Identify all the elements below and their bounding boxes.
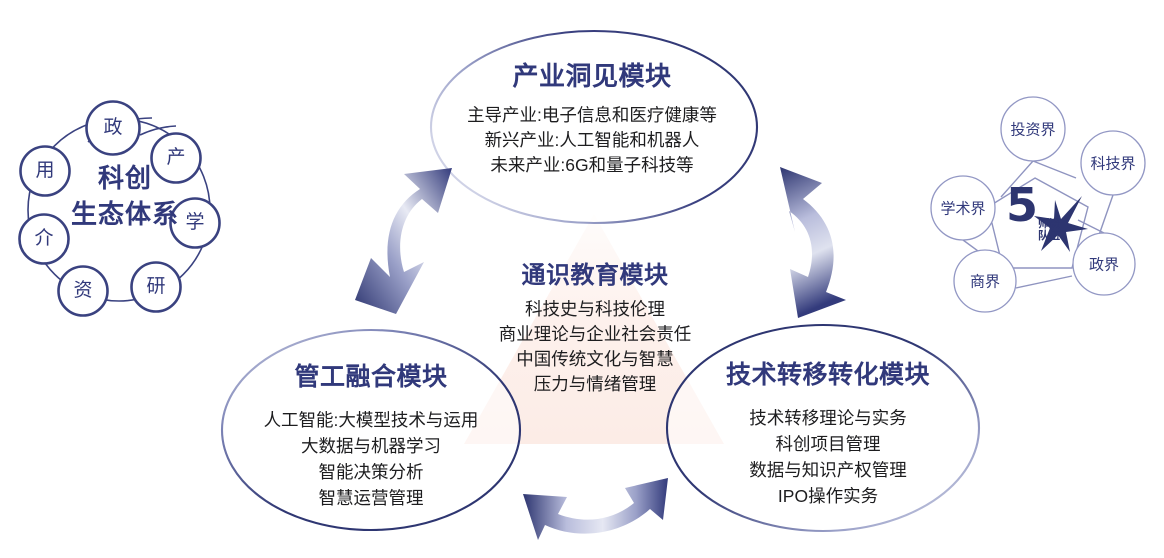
management-module-lines: 人工智能:大模型技术与运用 大数据与机器学习 智能决策分析 智慧运营管理 xyxy=(226,407,516,511)
industry-module-lines: 主导产业:电子信息和医疗健康等 新兴产业:人工智能和机器人 未来产业:6G和量子… xyxy=(432,103,752,178)
wheel-node-zi[interactable]: 资 xyxy=(63,271,103,311)
wheel-node-yan[interactable]: 研 xyxy=(136,267,176,307)
faculty-caption-line1: 师资 xyxy=(1036,218,1062,230)
star-node-business[interactable]: 商界 xyxy=(970,271,1000,292)
tech-transfer-line-1: 技术转移理论与实务 xyxy=(678,405,978,431)
general-education-line-2: 商业理论与企业社会责任 xyxy=(460,322,730,347)
arrow-bottom-bidirectional xyxy=(523,478,668,540)
industry-line-2: 新兴产业:人工智能和机器人 xyxy=(432,128,752,153)
management-line-1: 人工智能:大模型技术与运用 xyxy=(226,407,516,433)
tech-transfer-module-title: 技术转移转化模块 xyxy=(678,355,978,391)
arrow-left-bidirectional xyxy=(355,168,452,314)
faculty-caption-line2: 队伍 xyxy=(1036,230,1062,242)
wheel-node-jie[interactable]: 介 xyxy=(24,219,64,259)
management-line-2: 大数据与机器学习 xyxy=(226,433,516,459)
management-line-4: 智慧运营管理 xyxy=(226,485,516,511)
wheel-node-chan[interactable]: 产 xyxy=(156,138,196,178)
industry-line-3: 未来产业:6G和量子科技等 xyxy=(432,153,752,178)
management-line-3: 智能决策分析 xyxy=(226,459,516,485)
star-node-technology[interactable]: 科技界 xyxy=(1090,153,1135,174)
wheel-node-yong[interactable]: 用 xyxy=(25,151,65,191)
wheel-node-xue[interactable]: 学 xyxy=(175,203,215,243)
tech-transfer-line-4: IPO操作实务 xyxy=(678,483,978,509)
tech-transfer-line-3: 数据与知识产权管理 xyxy=(678,457,978,483)
industry-insight-module[interactable]: 产业洞见模块 主导产业:电子信息和医疗健康等 新兴产业:人工智能和机器人 未来产… xyxy=(432,56,752,178)
management-engineering-module[interactable]: 管工融合模块 人工智能:大模型技术与运用 大数据与机器学习 智能决策分析 智慧运… xyxy=(226,357,516,511)
tech-transfer-line-2: 科创项目管理 xyxy=(678,431,978,457)
diagram-canvas: 科创 生态体系 政 产 学 研 资 介 用 产业洞见模块 主导产业:电子信息和医… xyxy=(0,0,1164,558)
tech-transfer-module-lines: 技术转移理论与实务 科创项目管理 数据与知识产权管理 IPO操作实务 xyxy=(678,405,978,509)
arrow-right-bidirectional xyxy=(780,167,846,318)
star-node-academia[interactable]: 学术界 xyxy=(940,198,985,219)
industry-line-1: 主导产业:电子信息和医疗健康等 xyxy=(432,103,752,128)
general-education-line-1: 科技史与科技伦理 xyxy=(460,297,730,322)
management-module-title: 管工融合模块 xyxy=(226,357,516,393)
wheel-node-zheng[interactable]: 政 xyxy=(93,108,133,148)
faculty-caption: 师资 队伍 xyxy=(1036,218,1062,242)
star-node-government[interactable]: 政界 xyxy=(1089,254,1119,275)
faculty-count-number: 5 xyxy=(1006,182,1038,228)
industry-module-title: 产业洞见模块 xyxy=(432,56,752,93)
tech-transfer-module[interactable]: 技术转移转化模块 技术转移理论与实务 科创项目管理 数据与知识产权管理 IPO操… xyxy=(678,355,978,509)
general-education-module-title: 通识教育模块 xyxy=(460,255,730,290)
star-node-investment[interactable]: 投资界 xyxy=(1010,119,1055,140)
